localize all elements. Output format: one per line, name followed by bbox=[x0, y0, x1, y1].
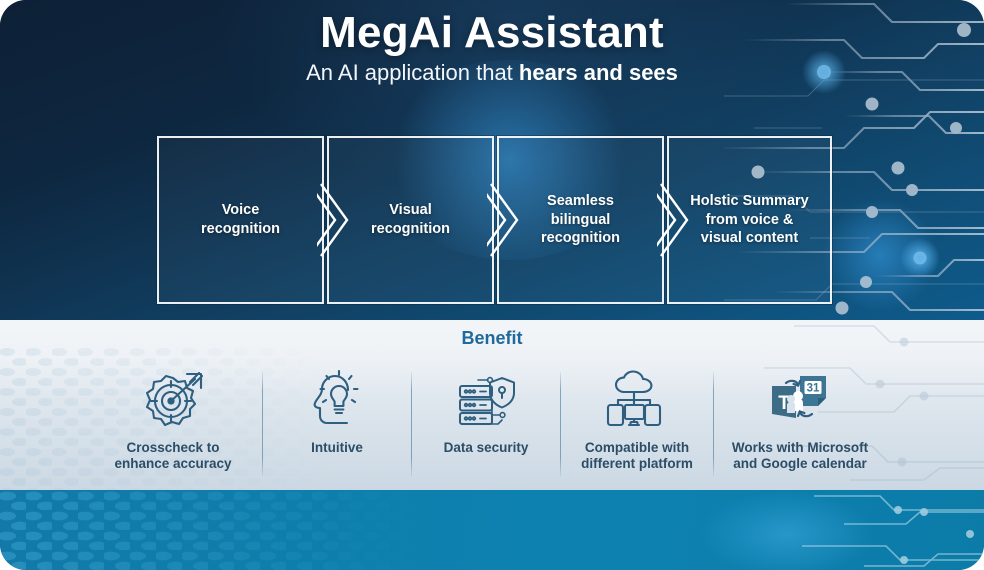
chevron-right-icon-3 bbox=[657, 182, 691, 258]
benefit-item-crosscheck-label: Crosscheck to enhance accuracy bbox=[114, 440, 231, 473]
page-subtitle: An AI application that hears and sees bbox=[0, 60, 984, 86]
benefit-items-row: Crosscheck to enhance accuracy Intuitive bbox=[0, 366, 984, 490]
benefit-item-crosscheck[interactable]: Crosscheck to enhance accuracy bbox=[84, 366, 262, 473]
process-step-4-label: Holstic Summary from voice & visual cont… bbox=[680, 192, 818, 248]
benefit-item-data-security-label: Data security bbox=[444, 440, 529, 456]
benefit-item-compatible-label: Compatible with different platform bbox=[581, 440, 693, 473]
benefit-title: Benefit bbox=[0, 328, 984, 349]
benefit-item-intuitive-label: Intuitive bbox=[311, 440, 363, 456]
process-step-1[interactable]: Voice recognition bbox=[157, 136, 324, 304]
benefit-item-calendar-integration[interactable]: 31 T Works with Micro bbox=[714, 366, 886, 473]
process-step-2-label: Visual recognition bbox=[361, 201, 460, 238]
subtitle-prefix: An AI application that bbox=[306, 60, 519, 85]
server-shield-lock-icon bbox=[450, 370, 522, 432]
benefit-item-compatible[interactable]: Compatible with different platform bbox=[561, 366, 713, 473]
benefit-item-calendar-integration-label: Works with Microsoft and Google calendar bbox=[732, 440, 868, 473]
process-step-3-label: Seamless bilingual recognition bbox=[531, 192, 630, 248]
benefit-item-data-security[interactable]: Data security bbox=[412, 366, 560, 456]
chevron-right-icon-1 bbox=[317, 182, 351, 258]
process-step-4[interactable]: Holstic Summary from voice & visual cont… bbox=[667, 136, 832, 304]
footer-circuit-icon bbox=[794, 490, 984, 570]
gear-target-dart-icon bbox=[137, 370, 209, 432]
svg-text:31: 31 bbox=[807, 383, 820, 395]
process-step-3[interactable]: Seamless bilingual recognition bbox=[497, 136, 664, 304]
process-step-1-label: Voice recognition bbox=[191, 201, 290, 238]
infographic-card: MegAi Assistant An AI application that h… bbox=[0, 0, 984, 570]
process-flow: Voice recognition Visual recognition Sea… bbox=[157, 136, 832, 304]
hero-section: MegAi Assistant An AI application that h… bbox=[0, 0, 984, 320]
hero-glow-right bbox=[820, 200, 940, 310]
cloud-devices-icon bbox=[601, 370, 673, 432]
chevron-right-icon-2 bbox=[487, 182, 521, 258]
subtitle-emphasis: hears and sees bbox=[519, 60, 678, 85]
process-step-2[interactable]: Visual recognition bbox=[327, 136, 494, 304]
footer-dot-texture-icon bbox=[0, 490, 420, 570]
benefit-item-intuitive[interactable]: Intuitive bbox=[263, 366, 411, 456]
teams-google-calendar-sync-icon: 31 T bbox=[764, 370, 836, 432]
benefit-section: Benefit Crosscheck to enhan bbox=[0, 320, 984, 490]
head-lightbulb-icon bbox=[301, 370, 373, 432]
page-title: MegAi Assistant bbox=[0, 8, 984, 58]
footer-bar bbox=[0, 490, 984, 570]
